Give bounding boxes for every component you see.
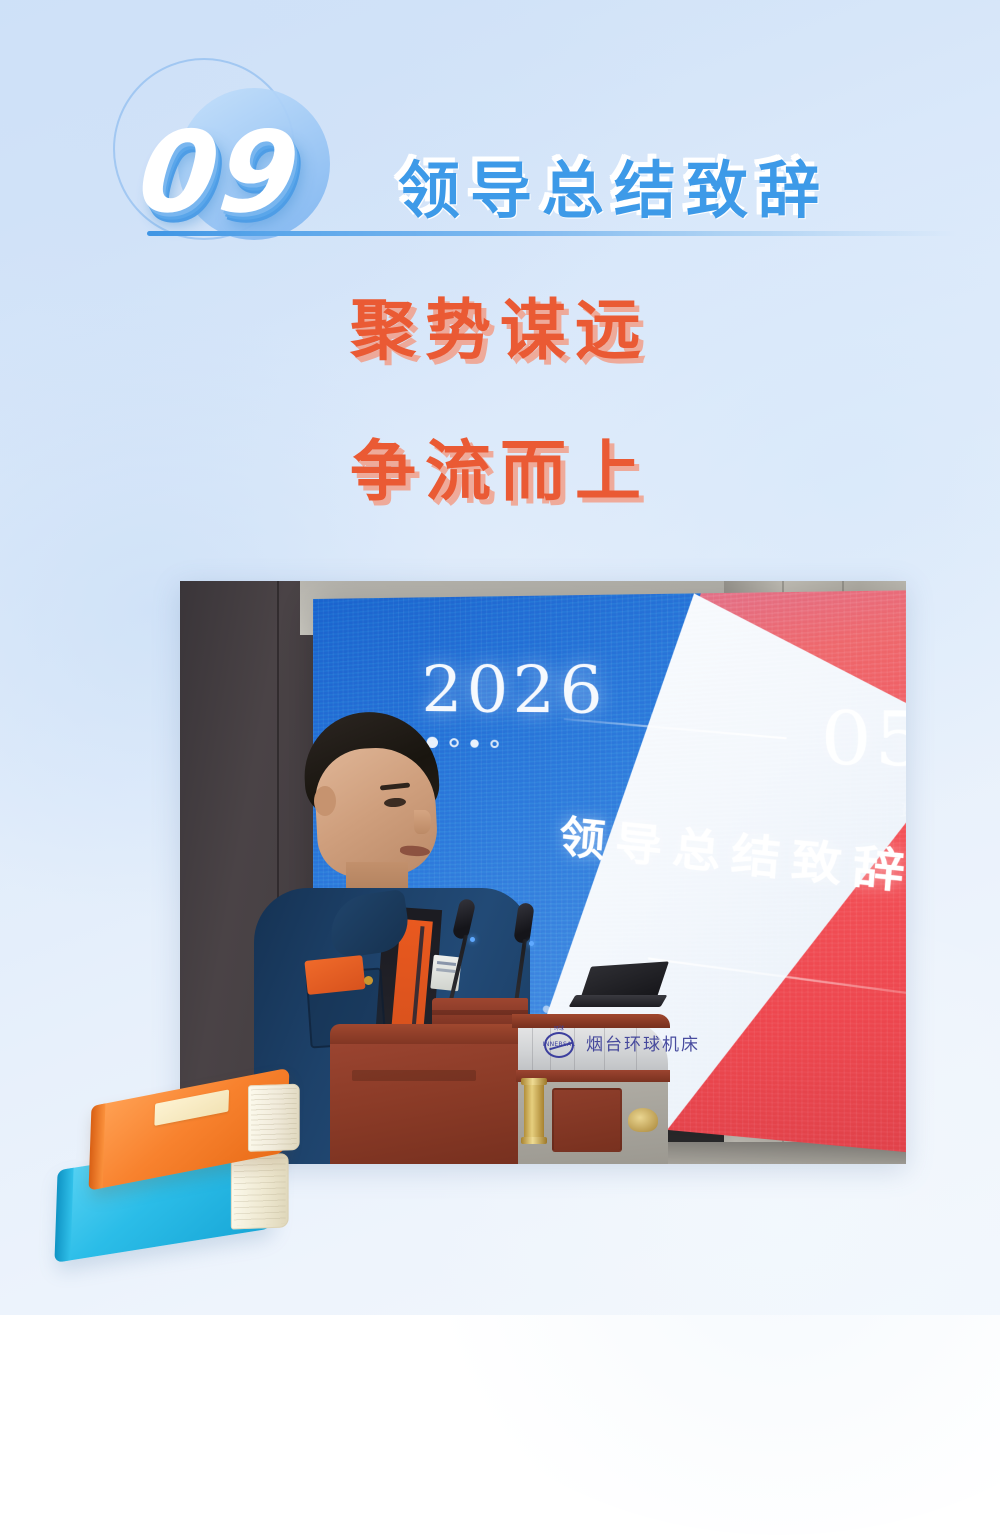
section-number-badge: 09 (134, 117, 306, 229)
slogan-block: 聚势谋远 争流而上 (0, 296, 1000, 507)
page-title: 领导总结致辞 (398, 140, 830, 230)
speaker-ear (314, 786, 336, 816)
podium-gold-pillar (524, 1082, 544, 1140)
speaker-pocket-flap (304, 955, 365, 995)
podium-logo-brand: INNERSAL (538, 1041, 580, 1048)
podium-panel (552, 1088, 622, 1152)
header-underline-rule (147, 231, 957, 236)
podium-logo-brand-cn: 环球 (544, 1025, 574, 1032)
speaker-nose (414, 810, 431, 834)
speaker-pocket-button (364, 976, 373, 985)
podium-company-text: 烟台环球机床 (586, 1030, 700, 1055)
stacked-books-icon (58, 1087, 308, 1277)
podium-rim-top (512, 1014, 670, 1028)
slogan-line-1: 聚势谋远 (0, 296, 1000, 365)
podium: 环球 INNERSAL 烟台环球机床 (330, 996, 660, 1164)
podium-ledge (330, 1024, 520, 1046)
poster-root: 09 领导总结致辞 聚势谋远 争流而上 (0, 0, 1000, 1315)
slogan-line-2: 争流而上 (0, 437, 1000, 506)
podium-front-body (330, 1044, 530, 1164)
podium-gold-crest (628, 1108, 658, 1132)
poster-header: 09 领导总结致辞 (0, 0, 1000, 270)
led-section-number: 05 (821, 696, 906, 784)
